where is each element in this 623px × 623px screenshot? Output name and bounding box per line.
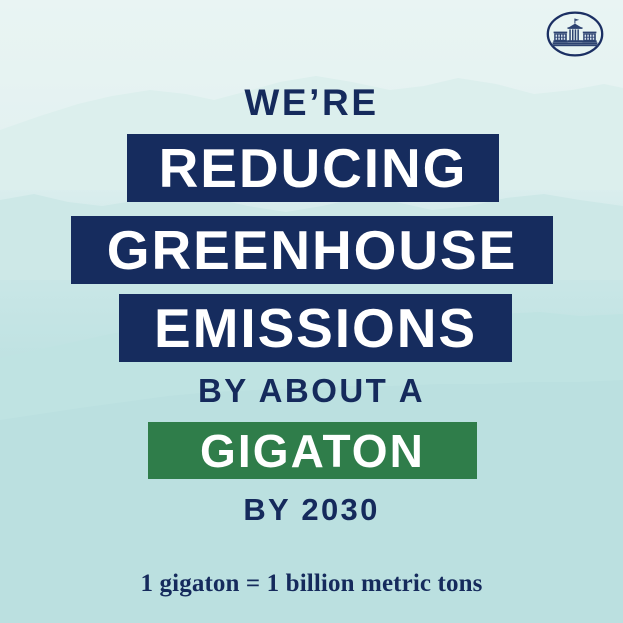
- footnote-text: 1 gigaton = 1 billion metric tons: [0, 570, 623, 598]
- headline-line-by-about-a: BY ABOUT A: [0, 374, 623, 407]
- headline-line-gigaton: GIGATON: [148, 422, 477, 479]
- headline-line-reducing: REDUCING: [127, 134, 499, 202]
- headline-line-were: WE’RE: [0, 84, 623, 121]
- headline-line-emissions: EMISSIONS: [119, 294, 512, 362]
- headline-line-greenhouse: GREENHOUSE: [71, 216, 553, 284]
- poster-content: WE’RE REDUCING GREENHOUSE EMISSIONS BY A…: [0, 0, 623, 623]
- white-house-seal-icon: [546, 11, 604, 57]
- poster-canvas: WE’RE REDUCING GREENHOUSE EMISSIONS BY A…: [0, 0, 623, 623]
- headline-line-by-2030: BY 2030: [0, 494, 623, 525]
